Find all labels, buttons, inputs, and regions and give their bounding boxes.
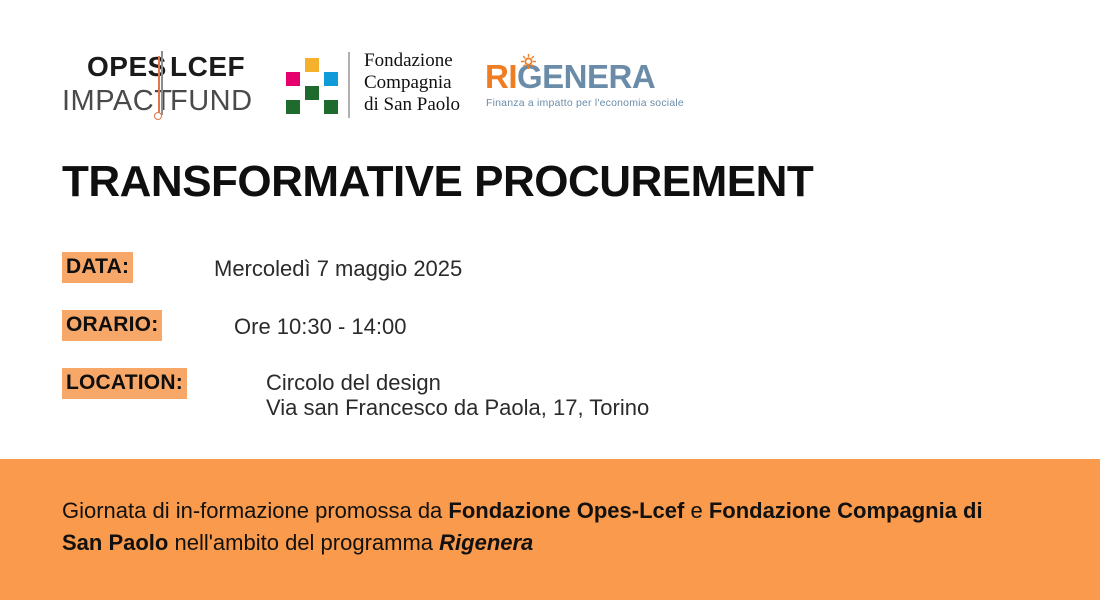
detail-row-orario: ORARIO: Ore 10:30 - 14:00	[62, 310, 862, 342]
green-square-right	[324, 100, 338, 114]
event-details: DATA: Mercoledì 7 maggio 2025 ORARIO: Or…	[62, 252, 862, 446]
opes-orange-pin-line-icon	[158, 56, 160, 113]
detail-label-location: LOCATION:	[62, 368, 187, 399]
detail-value-location-line-2: Via san Francesco da Paola, 17, Torino	[266, 395, 649, 420]
footer-seg-opes-bold: Fondazione Opes-Lcef	[448, 498, 684, 523]
page-title: TRANSFORMATIVE PROCUREMENT	[62, 157, 813, 207]
opes-logo-line-1: OPES LCEF	[62, 50, 267, 84]
detail-row-data: DATA: Mercoledì 7 maggio 2025	[62, 252, 862, 284]
cyan-square	[324, 72, 338, 86]
compagnia-wordmark: Fondazione Compagnia di San Paolo	[364, 50, 460, 116]
compagnia-squares-icon	[286, 58, 338, 114]
rigenera-wordmark-suffix: GENERA	[517, 58, 655, 95]
yellow-square	[305, 58, 319, 72]
detail-value-location-line-1: Circolo del design	[266, 370, 649, 395]
footer-promoter-text: Giornata di in-formazione promossa da Fo…	[62, 495, 1022, 559]
opes-wordmark-opes: OPES	[87, 50, 167, 84]
detail-label-orario: ORARIO:	[62, 310, 162, 341]
compagnia-wordmark-line-3: di San Paolo	[364, 94, 460, 116]
footer-seg-3: e	[684, 498, 708, 523]
magenta-square	[286, 72, 300, 86]
green-square-center	[305, 86, 319, 100]
detail-value-location: Circolo del design Via san Francesco da …	[266, 370, 649, 420]
detail-row-location: LOCATION: Circolo del design Via san Fra…	[62, 368, 862, 420]
footer-seg-1: Giornata di in-formazione promossa da	[62, 498, 448, 523]
rigenera-tagline: Finanza a impatto per l'economia sociale	[486, 97, 684, 109]
compagnia-wordmark-line-1: Fondazione	[364, 50, 460, 72]
detail-label-data: DATA:	[62, 252, 133, 283]
opes-wordmark-lcef: LCEF	[170, 50, 245, 84]
detail-value-data: Mercoledì 7 maggio 2025	[214, 256, 462, 281]
opes-wordmark-fund: FUND	[170, 84, 253, 118]
rigenera-sun-icon	[521, 54, 536, 69]
compagnia-wordmark-line-2: Compagnia	[364, 72, 460, 94]
footer-seg-rigenera-italic: Rigenera	[439, 530, 533, 555]
rigenera-logo: RIGENERA Finanza a impatto per l'economi…	[485, 58, 665, 116]
detail-value-orario: Ore 10:30 - 14:00	[234, 314, 406, 339]
opes-logo-line-2: IMPACT FUND	[62, 84, 267, 118]
rigenera-wordmark-prefix: RI	[485, 58, 517, 95]
opes-orange-circle-icon	[154, 112, 162, 120]
fondazione-compagnia-di-san-paolo-logo: Fondazione Compagnia di San Paolo	[286, 52, 461, 120]
logo-bar: OPES LCEF IMPACT FUND Fondazione Compagn…	[0, 0, 1100, 150]
opes-divider-rule-icon	[161, 51, 163, 115]
green-square-left	[286, 100, 300, 114]
opes-lcef-impact-fund-logo: OPES LCEF IMPACT FUND	[62, 48, 267, 122]
footer-seg-5: nell'ambito del programma	[168, 530, 439, 555]
compagnia-divider-rule-icon	[348, 52, 350, 118]
footer-band: Giornata di in-formazione promossa da Fo…	[0, 459, 1100, 600]
rigenera-wordmark: RIGENERA	[485, 58, 655, 96]
